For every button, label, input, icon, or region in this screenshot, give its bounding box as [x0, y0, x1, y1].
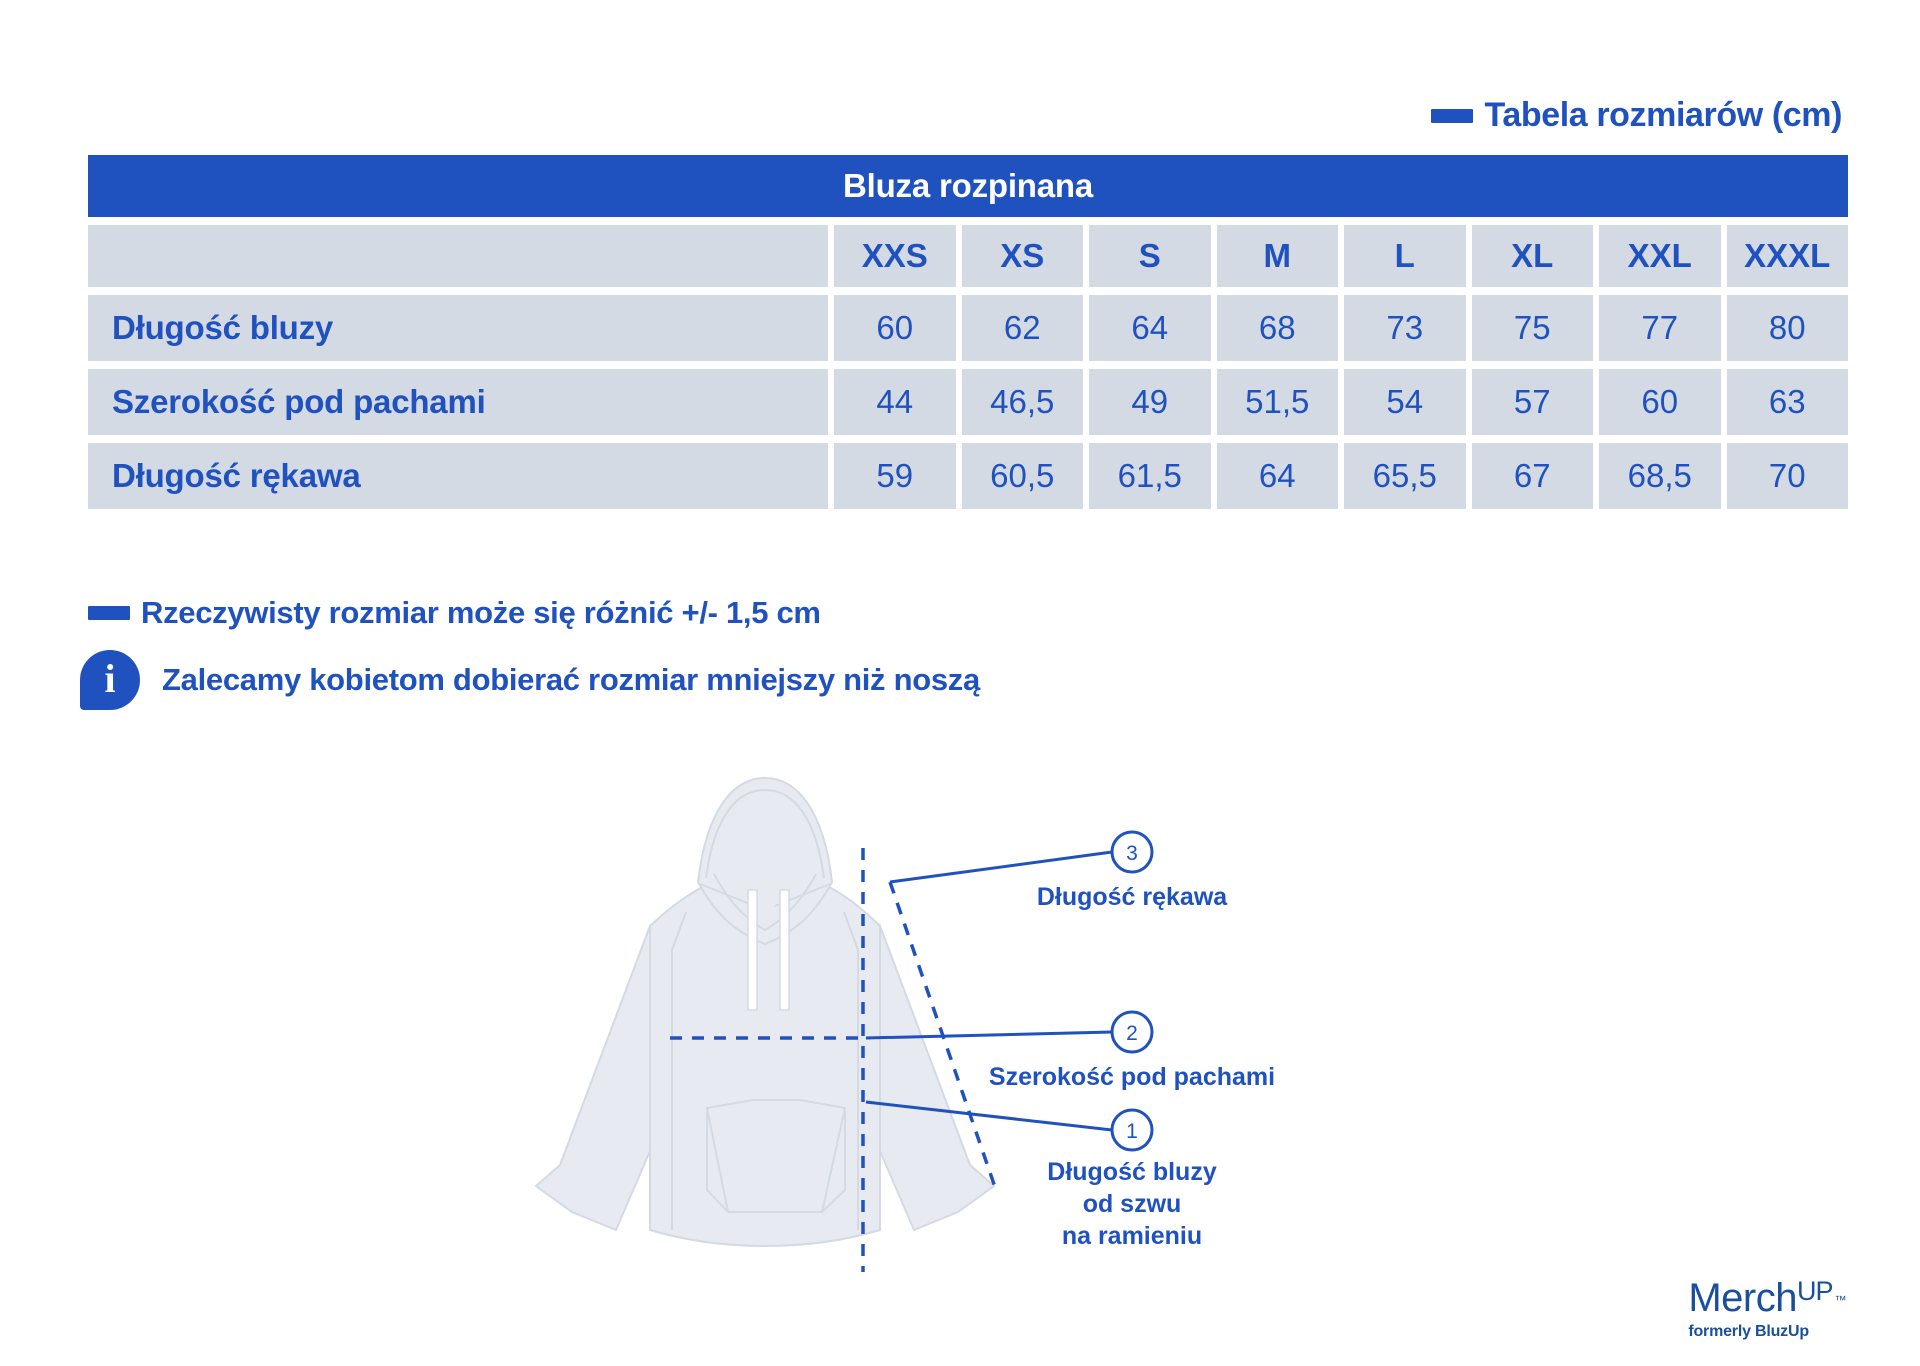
brand-logo-tagline: formerly BluzUp [1688, 1324, 1846, 1340]
size-table: Bluza rozpinana XXS XS S M L XL XXL XXXL… [88, 155, 1848, 509]
cell-length-xs: 62 [962, 295, 1084, 361]
cell-length-xxl: 77 [1599, 295, 1721, 361]
callout-1-label-line3: na ramieniu [1062, 1222, 1202, 1250]
callout-2-number: 2 [1126, 1022, 1138, 1045]
size-chart-caption: Tabela rozmiarów (cm) [1431, 96, 1843, 135]
callout-2-label: Szerokość pod pachami [989, 1063, 1275, 1091]
row-label-length: Długość bluzy [88, 295, 828, 361]
cell-chest-xl: 57 [1472, 369, 1594, 435]
cell-sleeve-s: 61,5 [1089, 443, 1211, 509]
cell-length-xxxl: 80 [1727, 295, 1849, 361]
brand-logo: MerchUP™ formerly BluzUp [1688, 1278, 1846, 1340]
callout-1-number: 1 [1126, 1120, 1138, 1143]
size-header-m: M [1217, 225, 1339, 287]
callout-1: 1 Długość bluzy od szwu na ramieniu [1047, 1110, 1217, 1250]
cell-chest-xxl: 60 [1599, 369, 1721, 435]
hoodie-diagram: 3 Długość rękawa 2 Szerokość pod pachami… [500, 760, 1620, 1320]
cell-chest-xs: 46,5 [962, 369, 1084, 435]
cell-chest-l: 54 [1344, 369, 1466, 435]
dash-icon [1431, 109, 1473, 123]
brand-logo-suffix: UP [1797, 1276, 1833, 1306]
hoodie-garment-icon [536, 778, 994, 1246]
size-header-xxs: XXS [834, 225, 956, 287]
size-header-s: S [1089, 225, 1211, 287]
cell-length-xl: 75 [1472, 295, 1594, 361]
size-header-xs: XS [962, 225, 1084, 287]
brand-logo-name: Merch [1688, 1276, 1797, 1320]
callout-1-label-line1: Długość bluzy [1047, 1158, 1217, 1186]
cell-chest-s: 49 [1089, 369, 1211, 435]
callout-3: 3 Długość rękawa [1037, 832, 1228, 911]
tolerance-note-label: Rzeczywisty rozmiar może się różnić +/- … [141, 595, 821, 631]
callout-2: 2 Szerokość pod pachami [989, 1012, 1275, 1091]
table-row: Długość rękawa 59 60,5 61,5 64 65,5 67 6… [88, 443, 1848, 509]
advice-note-label: Zalecamy kobietom dobierać rozmiar mniej… [162, 662, 980, 698]
tolerance-note: Rzeczywisty rozmiar może się różnić +/- … [88, 595, 821, 631]
cell-sleeve-xl: 67 [1472, 443, 1594, 509]
row-label-chest: Szerokość pod pachami [88, 369, 828, 435]
cell-chest-xxs: 44 [834, 369, 956, 435]
table-header-row: XXS XS S M L XL XXL XXXL [88, 225, 1848, 287]
cell-length-s: 64 [1089, 295, 1211, 361]
size-header-l: L [1344, 225, 1466, 287]
cell-sleeve-xxl: 68,5 [1599, 443, 1721, 509]
trademark-icon: ™ [1835, 1293, 1847, 1307]
brand-logo-wordmark: MerchUP™ [1688, 1278, 1846, 1318]
callout-3-number: 3 [1126, 842, 1138, 865]
table-row: Długość bluzy 60 62 64 68 73 75 77 80 [88, 295, 1848, 361]
cell-chest-m: 51,5 [1217, 369, 1339, 435]
size-header-xl: XL [1472, 225, 1594, 287]
info-icon-glyph: i [80, 650, 140, 710]
info-icon: i [80, 650, 140, 710]
size-header-xxl: XXL [1599, 225, 1721, 287]
cell-sleeve-m: 64 [1217, 443, 1339, 509]
callout-3-label: Długość rękawa [1037, 883, 1228, 911]
dash-icon [88, 606, 130, 620]
size-table-title: Bluza rozpinana [88, 155, 1848, 217]
advice-note: i Zalecamy kobietom dobierać rozmiar mni… [80, 650, 980, 710]
cell-sleeve-xxs: 59 [834, 443, 956, 509]
cell-sleeve-xs: 60,5 [962, 443, 1084, 509]
cell-length-xxs: 60 [834, 295, 956, 361]
size-chart-caption-label: Tabela rozmiarów (cm) [1485, 96, 1843, 135]
size-header-xxxl: XXXL [1727, 225, 1849, 287]
table-header-corner [88, 225, 828, 287]
callout-1-label-line2: od szwu [1083, 1190, 1182, 1218]
cell-sleeve-l: 65,5 [1344, 443, 1466, 509]
cell-length-m: 68 [1217, 295, 1339, 361]
cell-length-l: 73 [1344, 295, 1466, 361]
size-table-grid: XXS XS S M L XL XXL XXXL Długość bluzy 6… [88, 225, 1848, 509]
cell-chest-xxxl: 63 [1727, 369, 1849, 435]
row-label-sleeve: Długość rękawa [88, 443, 828, 509]
cell-sleeve-xxxl: 70 [1727, 443, 1849, 509]
table-row: Szerokość pod pachami 44 46,5 49 51,5 54… [88, 369, 1848, 435]
